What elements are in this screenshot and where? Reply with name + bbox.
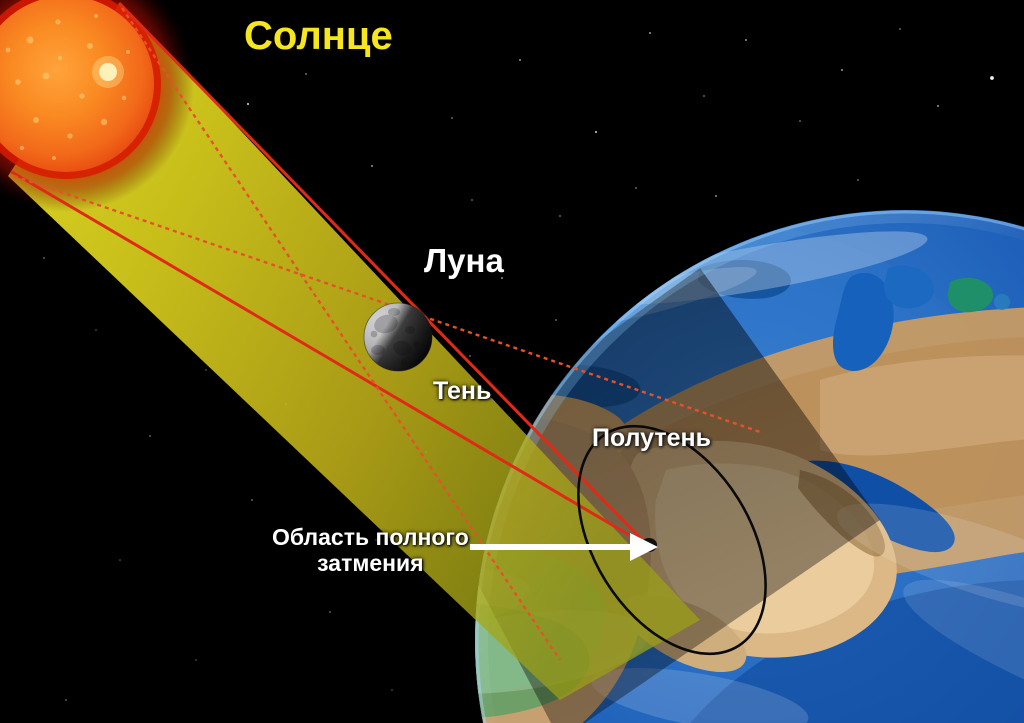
moon (364, 303, 432, 371)
diagram-canvas (0, 0, 1024, 723)
solar-eclipse-diagram: Солнце Луна Тень Полутень Область полног… (0, 0, 1024, 723)
